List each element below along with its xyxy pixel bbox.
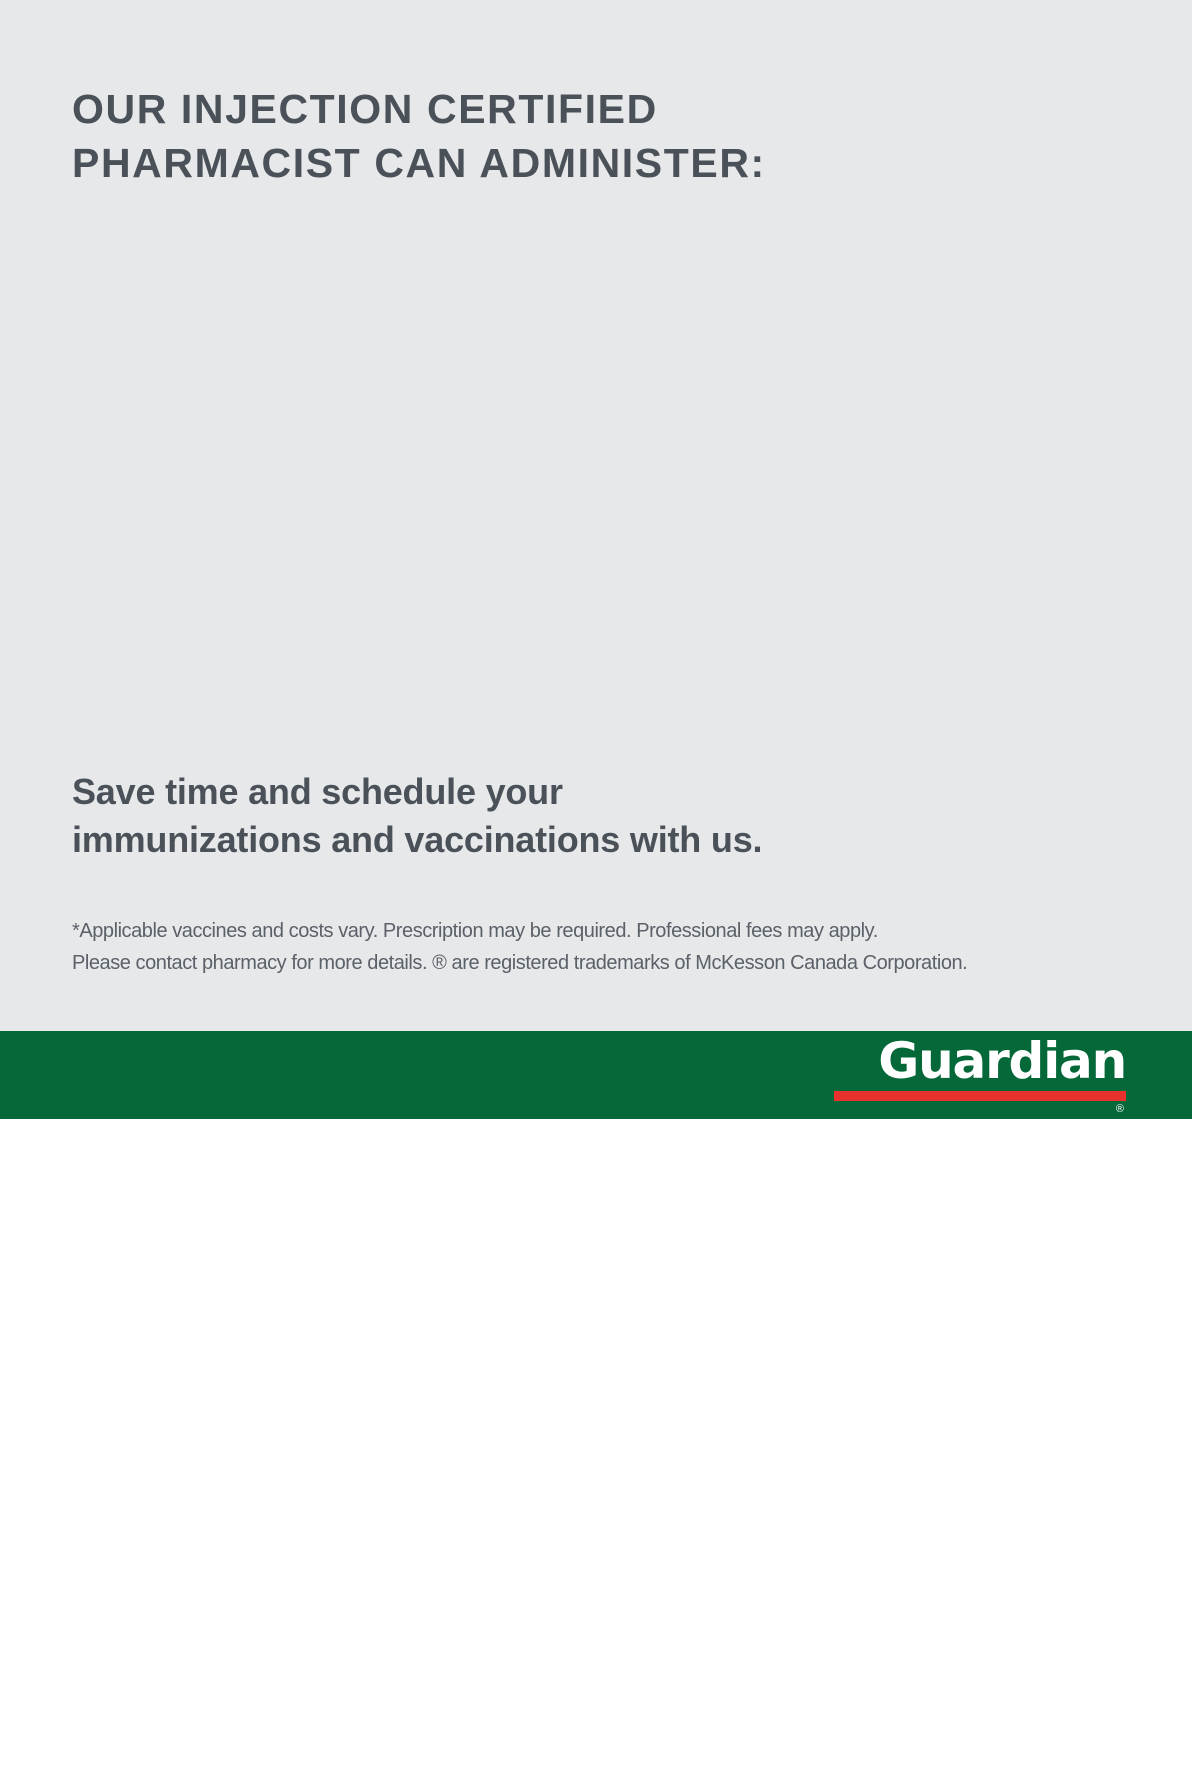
page-title: OUR INJECTION CERTIFIED PHARMACIST CAN A… bbox=[72, 82, 972, 190]
headline-line-2: PHARMACIST CAN ADMINISTER: bbox=[72, 136, 972, 190]
promo-panel: OUR INJECTION CERTIFIED PHARMACIST CAN A… bbox=[0, 0, 1192, 1031]
subhead-line-2: immunizations and vaccinations with us. bbox=[72, 816, 932, 864]
subhead-line-1: Save time and schedule your bbox=[72, 771, 563, 812]
disclaimer-line-1: *Applicable vaccines and costs vary. Pre… bbox=[72, 920, 878, 942]
headline-line-1: OUR INJECTION CERTIFIED bbox=[72, 86, 658, 132]
promo-subheading: Save time and schedule your immunization… bbox=[72, 768, 932, 864]
guardian-logo: Guardian ® bbox=[834, 1036, 1126, 1101]
pharmacy-flyer: OUR INJECTION CERTIFIED PHARMACIST CAN A… bbox=[0, 0, 1192, 1785]
contact-section: Creative Path Digital Imaging Inc. 1455-… bbox=[0, 1119, 1192, 1785]
guardian-underline-rule bbox=[834, 1091, 1126, 1101]
guardian-wordmark: Guardian bbox=[834, 1036, 1126, 1087]
disclaimer-text: *Applicable vaccines and costs vary. Pre… bbox=[72, 915, 1117, 980]
disclaimer-line-2: Please contact pharmacy for more details… bbox=[72, 947, 1117, 979]
registered-trademark-icon: ® bbox=[1116, 1104, 1124, 1115]
